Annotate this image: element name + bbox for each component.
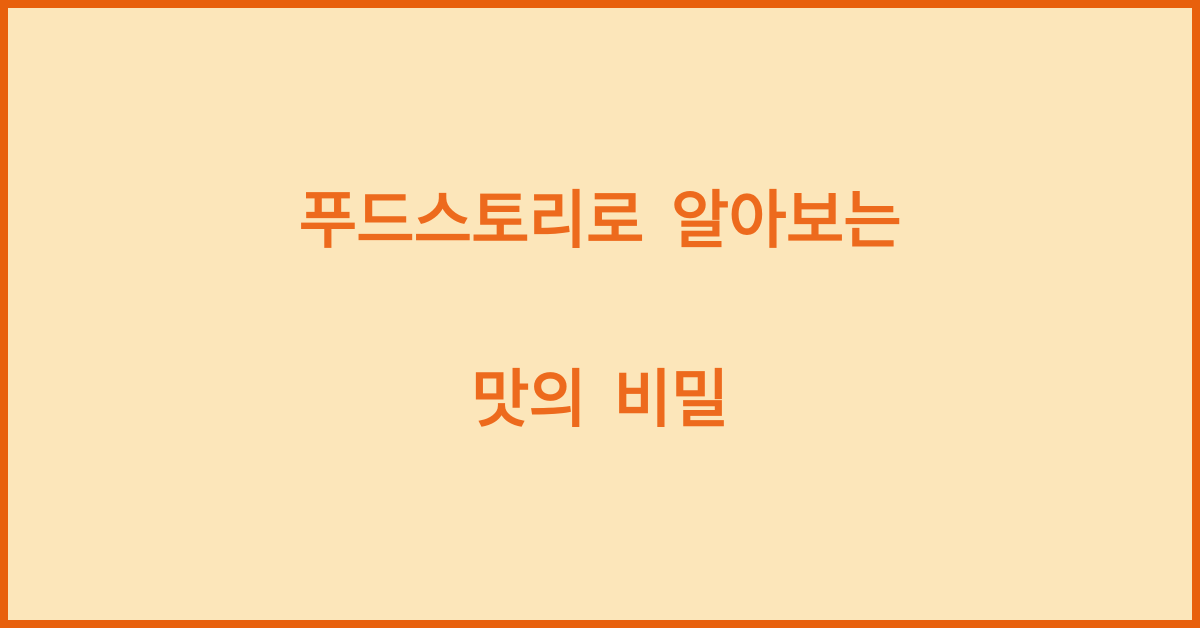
headline-line-1: 푸드스토리로 알아보는 (299, 176, 901, 265)
headline-line-2: 맛의 비밀 (299, 355, 901, 444)
promo-banner: 푸드스토리로 알아보는 맛의 비밀 (0, 0, 1200, 628)
headline: 푸드스토리로 알아보는 맛의 비밀 (299, 86, 901, 541)
